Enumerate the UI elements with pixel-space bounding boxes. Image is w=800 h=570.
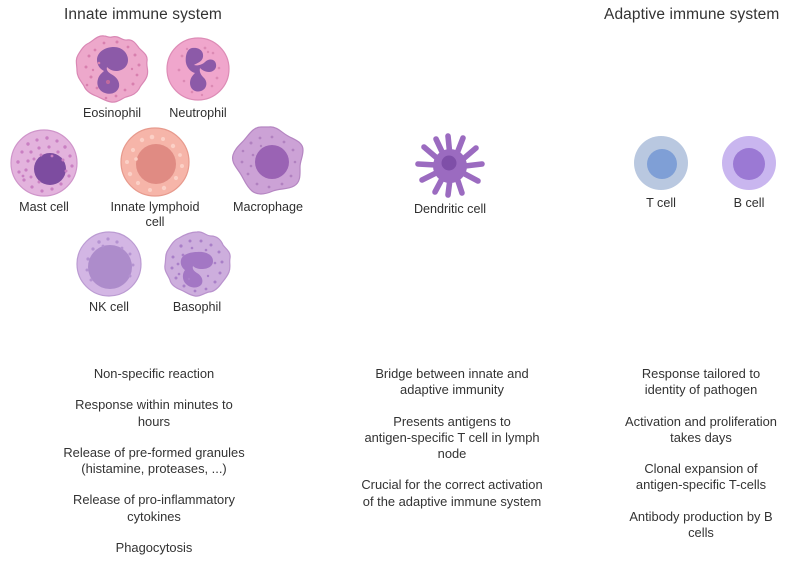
eosinophil-icon	[73, 34, 151, 104]
innate-facts-list: Non-specific reaction Response within mi…	[25, 366, 283, 556]
mast-cell-icon	[8, 128, 80, 198]
dendritic-cell-icon	[410, 128, 490, 200]
fact-item: Antibody production by B cells	[629, 509, 772, 542]
cell-figure-dendritic-cell: Dendritic cell	[398, 128, 502, 217]
fact-item: Response tailored to identity of pathoge…	[642, 366, 760, 399]
cell-figure-b-cell: B cell	[718, 132, 780, 211]
macrophage-icon	[227, 124, 309, 198]
fact-item: Activation and proliferation takes days	[625, 414, 777, 447]
neutrophil-icon	[165, 34, 231, 104]
diagram-canvas: Innate immune system Adaptive immune sys…	[0, 0, 800, 570]
cell-figure-t-cell: T cell	[630, 132, 692, 211]
fact-item: Presents antigens to antigen-specific T …	[364, 414, 539, 463]
cell-figure-macrophage: Macrophage	[222, 124, 314, 215]
cell-label-eosinophil: Eosinophil	[83, 106, 141, 121]
fact-item: Crucial for the correct activation of th…	[361, 477, 542, 510]
cell-label-innate-lymphoid-cell: Innate lymphoid cell	[111, 200, 200, 230]
innate-column-title: Innate immune system	[64, 6, 222, 24]
cell-figure-mast-cell: Mast cell	[6, 128, 82, 215]
bridge-facts-list: Bridge between innate and adaptive immun…	[336, 366, 568, 510]
fact-item: Response within minutes to hours	[75, 397, 233, 430]
cell-figure-innate-lymphoid-cell: Innate lymphoid cell	[105, 126, 205, 230]
fact-item: Phagocytosis	[116, 540, 193, 556]
innate-lymphoid-cell-icon	[116, 126, 194, 198]
fact-item: Clonal expansion of antigen-specific T-c…	[636, 461, 766, 494]
t-cell-icon	[632, 132, 690, 194]
adaptive-facts-list: Response tailored to identity of pathoge…	[608, 366, 794, 541]
cell-label-basophil: Basophil	[173, 300, 221, 315]
cell-figure-basophil: Basophil	[159, 230, 235, 315]
cell-figure-eosinophil: Eosinophil	[66, 34, 158, 121]
cell-label-macrophage: Macrophage	[233, 200, 303, 215]
cell-label-mast-cell: Mast cell	[19, 200, 69, 215]
cell-label-t-cell: T cell	[646, 196, 676, 211]
cell-label-b-cell: B cell	[734, 196, 765, 211]
cell-label-neutrophil: Neutrophil	[169, 106, 226, 121]
cell-label-nk-cell: NK cell	[89, 300, 129, 315]
fact-item: Bridge between innate and adaptive immun…	[375, 366, 528, 399]
cell-label-dendritic-cell: Dendritic cell	[414, 202, 486, 217]
cell-figure-nk-cell: NK cell	[73, 230, 145, 315]
b-cell-icon	[720, 132, 778, 194]
basophil-icon	[161, 230, 233, 298]
nk-cell-icon	[75, 230, 143, 298]
adaptive-column-title: Adaptive immune system	[604, 6, 779, 24]
fact-item: Non-specific reaction	[94, 366, 214, 382]
fact-item: Release of pre-formed granules (histamin…	[63, 445, 244, 478]
cell-figure-neutrophil: Neutrophil	[163, 34, 233, 121]
fact-item: Release of pro-inflammatory cytokines	[73, 492, 235, 525]
